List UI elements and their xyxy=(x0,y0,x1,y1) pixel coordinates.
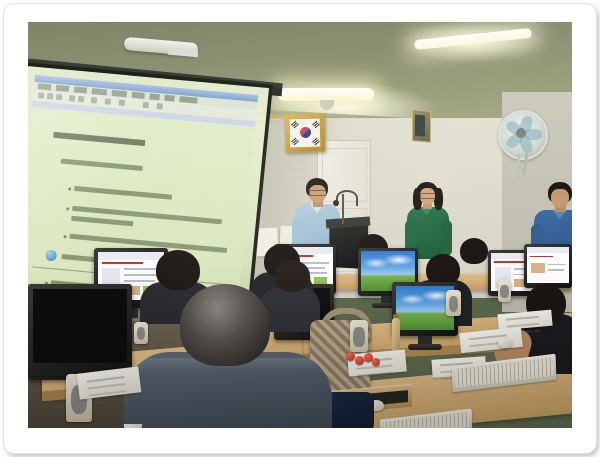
photograph xyxy=(28,22,572,428)
gooseneck-microphone-icon xyxy=(336,190,358,206)
webpage-header xyxy=(527,247,569,253)
webpage-image xyxy=(531,263,545,273)
bottle xyxy=(392,318,400,352)
red-snack-item xyxy=(346,352,355,361)
desktop-speaker xyxy=(446,290,461,316)
observer-face xyxy=(551,189,569,208)
monitor-webpage-far-right xyxy=(524,244,572,288)
fan-stem xyxy=(517,154,520,180)
microphone-stem xyxy=(342,194,344,224)
webpage-text-line xyxy=(124,268,160,270)
desktop-speaker xyxy=(498,280,511,302)
paper-cup xyxy=(122,424,144,428)
red-snack-item xyxy=(372,358,380,366)
fan-hub xyxy=(516,128,526,138)
desktop-speaker xyxy=(134,322,148,344)
student-head xyxy=(156,250,200,290)
photo-frame xyxy=(0,0,600,457)
monitor-foreground-left xyxy=(28,284,132,380)
webpage-text-line xyxy=(124,274,157,276)
student-head xyxy=(460,238,488,264)
webpage-text-line xyxy=(548,269,564,270)
webpage-badge xyxy=(314,277,327,284)
webpage-banner xyxy=(530,256,554,258)
monitor-display[interactable] xyxy=(527,247,569,283)
webpage-banner xyxy=(494,261,525,263)
webpage-text-line xyxy=(124,280,154,282)
webpage-banner xyxy=(102,262,143,264)
monitor-display[interactable] xyxy=(33,289,127,363)
mouse[interactable] xyxy=(498,338,512,348)
student-head xyxy=(274,260,310,292)
glasses-icon xyxy=(420,193,437,199)
pa-speaker-grill xyxy=(415,115,425,137)
microphone-head xyxy=(333,200,339,206)
webpage-text-line xyxy=(548,264,566,265)
assistant-arm xyxy=(441,220,452,256)
glasses-icon xyxy=(309,190,327,196)
webpage-header xyxy=(98,252,164,260)
foreground-student-head xyxy=(180,284,270,366)
desktop-speaker xyxy=(350,320,368,352)
red-snack-item xyxy=(355,356,364,365)
monitor-base xyxy=(408,344,442,350)
